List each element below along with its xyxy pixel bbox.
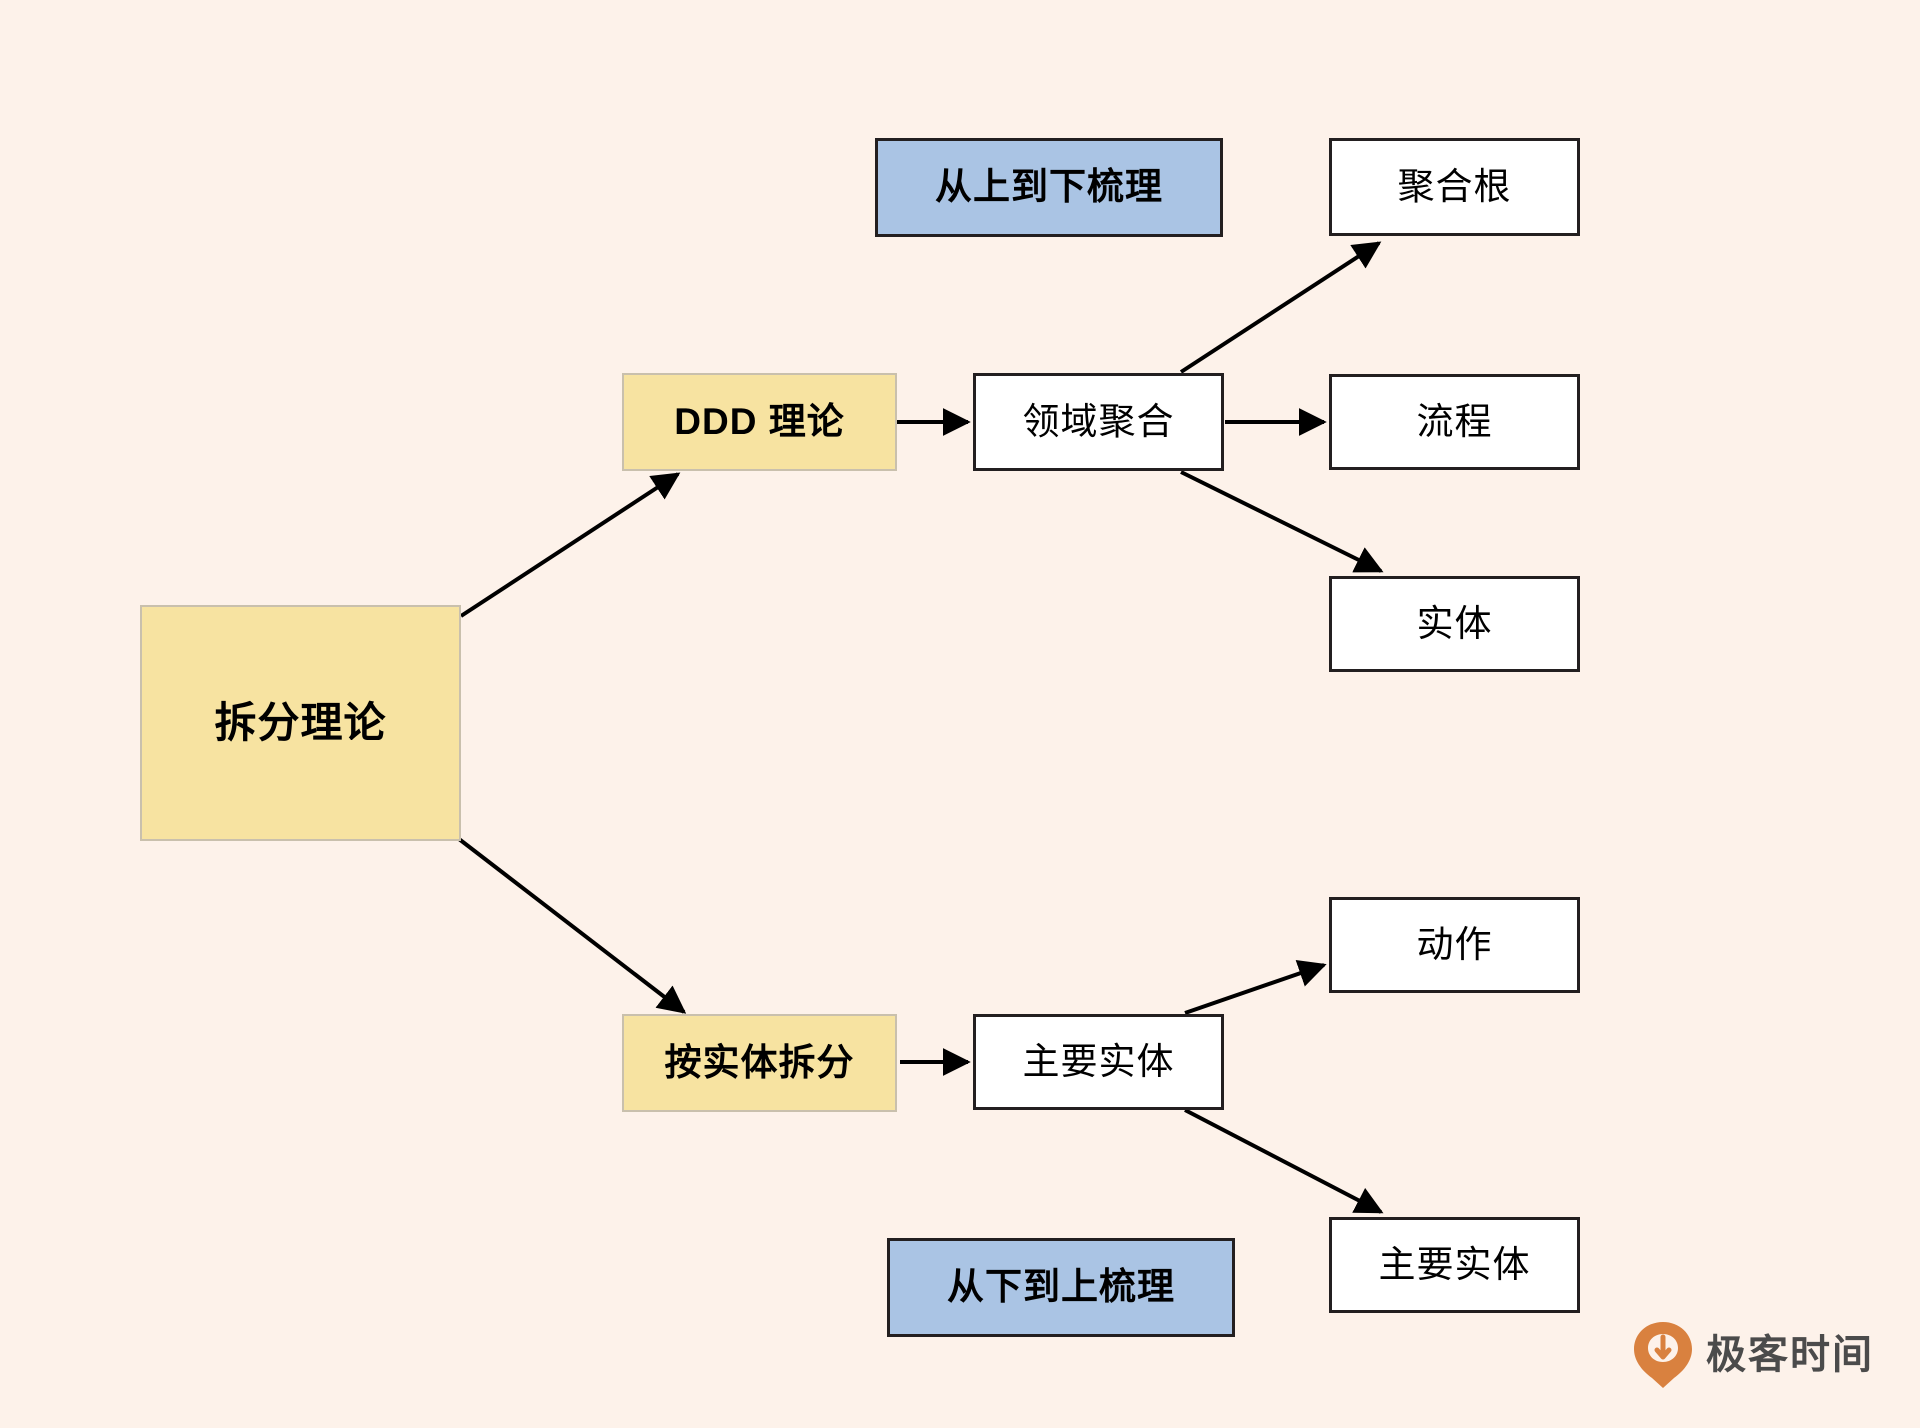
node-action-label: 动作 xyxy=(1417,923,1493,967)
geekbang-location-pin-icon xyxy=(1632,1320,1694,1390)
node-process[interactable]: 流程 xyxy=(1329,374,1580,470)
edge-main-entity-top-to-main-entity-bottom xyxy=(1185,1110,1381,1212)
note-top-down[interactable]: 从上到下梳理 xyxy=(875,138,1223,237)
node-main-entity-top-label: 主要实体 xyxy=(1023,1040,1175,1084)
node-split-by-entity-label: 按实体拆分 xyxy=(665,1041,855,1085)
brand-logo: 极客时间 xyxy=(1632,1320,1874,1390)
node-domain-aggregate[interactable]: 领域聚合 xyxy=(973,373,1224,471)
note-bottom-up[interactable]: 从下到上梳理 xyxy=(887,1238,1235,1337)
edge-root-to-ddd-theory xyxy=(461,474,678,616)
node-entity-label: 实体 xyxy=(1417,602,1493,646)
node-split-by-entity[interactable]: 按实体拆分 xyxy=(622,1014,897,1112)
note-top-down-label: 从上到下梳理 xyxy=(935,165,1163,209)
edge-domain-aggregate-to-entity xyxy=(1181,472,1381,571)
edge-root-to-split-by-entity xyxy=(459,839,684,1012)
node-entity[interactable]: 实体 xyxy=(1329,576,1580,672)
node-main-entity-bottom[interactable]: 主要实体 xyxy=(1329,1217,1580,1313)
node-root-label: 拆分理论 xyxy=(214,698,386,748)
node-root[interactable]: 拆分理论 xyxy=(140,605,461,841)
note-bottom-up-label: 从下到上梳理 xyxy=(947,1265,1175,1309)
brand-logo-text: 极客时间 xyxy=(1706,1335,1874,1375)
node-main-entity-bottom-label: 主要实体 xyxy=(1379,1243,1531,1287)
node-ddd-theory[interactable]: DDD 理论 xyxy=(622,373,897,471)
node-aggregate-root[interactable]: 聚合根 xyxy=(1329,138,1580,236)
edge-main-entity-top-to-action xyxy=(1185,965,1324,1013)
node-main-entity-top[interactable]: 主要实体 xyxy=(973,1014,1224,1110)
node-action[interactable]: 动作 xyxy=(1329,897,1580,993)
node-domain-aggregate-label: 领域聚合 xyxy=(1023,400,1175,444)
diagram-canvas: 拆分理论 DDD 理论 领域聚合 聚合根 流程 实体 按实体拆分 主要实体 动作… xyxy=(0,0,1920,1428)
edge-domain-aggregate-to-aggregate-root xyxy=(1181,243,1379,372)
node-ddd-theory-label: DDD 理论 xyxy=(674,400,844,444)
node-aggregate-root-label: 聚合根 xyxy=(1398,165,1512,209)
node-process-label: 流程 xyxy=(1417,400,1493,444)
